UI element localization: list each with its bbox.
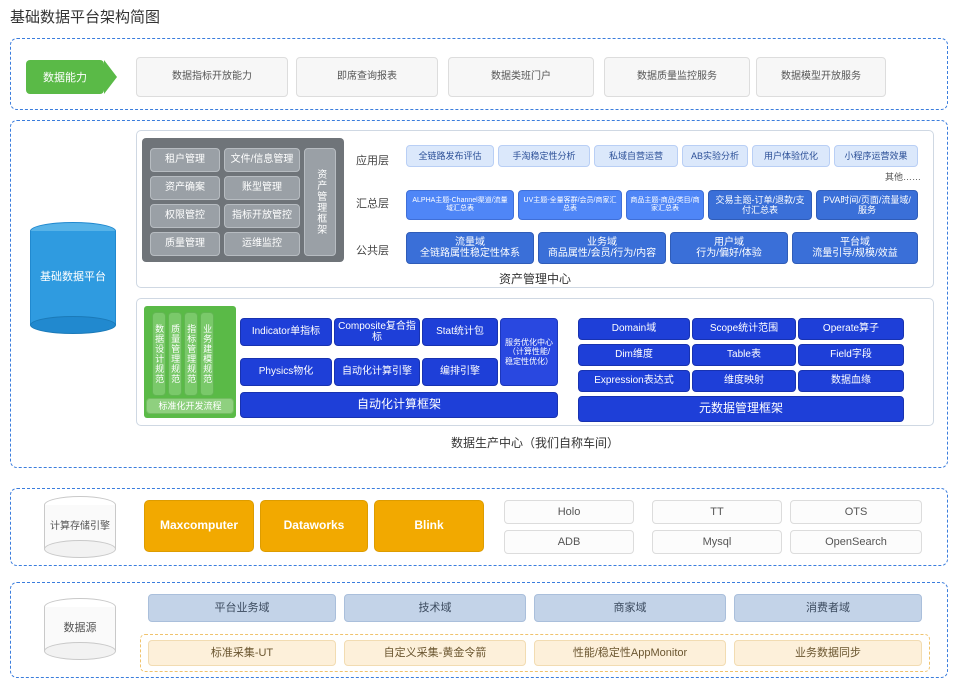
standard-process-label: 标准化开发流程 [146, 398, 234, 414]
asset-chip[interactable]: 文件/信息管理 [224, 148, 300, 172]
capability-chip[interactable]: 即席查询报表 [296, 57, 438, 97]
source-label-text: 数据源 [44, 622, 116, 636]
asset-chip[interactable]: 资产确案 [150, 176, 220, 200]
production-center-caption: 数据生产中心（我们自称车间） [136, 434, 934, 451]
asset-center-caption: 资产管理中心 [136, 270, 934, 287]
app-layer-chip[interactable]: AB实验分析 [682, 145, 748, 167]
source-domain-chip[interactable]: 平台业务域 [148, 594, 336, 622]
auto-calc-chip[interactable]: Indicator单指标 [240, 318, 332, 346]
compute-primary-chip[interactable]: Maxcomputer [144, 500, 254, 552]
metadata-chip[interactable]: Dim维度 [578, 344, 690, 366]
capabilities-label-text: 数据能力 [43, 69, 87, 85]
metadata-chip[interactable]: Field字段 [798, 344, 904, 366]
source-pipeline-chip[interactable]: 自定义采集-黄金令箭 [344, 640, 526, 666]
source-pipeline-chip[interactable]: 业务数据同步 [734, 640, 922, 666]
source-label-cylinder: 数据源 [44, 598, 116, 660]
compute-secondary-chip[interactable]: Mysql [652, 530, 782, 554]
compute-label-cylinder: 计算存储引擎 [44, 496, 116, 558]
summary-layer-chip[interactable]: ALPHA主题-Channel渠道/流量域汇总表 [406, 190, 514, 220]
app-layer-chip[interactable]: 全链路发布评估 [406, 145, 494, 167]
compute-primary-chip[interactable]: Blink [374, 500, 484, 552]
summary-layer-chip[interactable]: 交易主题-订单/退款/支付汇总表 [708, 190, 812, 220]
app-layer-chip[interactable]: 手淘稳定性分析 [498, 145, 590, 167]
cylinder-bottom [44, 642, 116, 660]
auto-calc-chip[interactable]: 编排引擎 [422, 358, 498, 386]
asset-framework-label: 资产管理框架 [304, 148, 336, 256]
asset-chip[interactable]: 租户管理 [150, 148, 220, 172]
compute-label-text: 计算存储引擎 [44, 521, 116, 534]
platform-label-text: 基础数据平台 [30, 271, 116, 285]
metadata-chip[interactable]: Operate算子 [798, 318, 904, 340]
service-optimization-chip[interactable]: 服务优化中心（计算性能/稳定性优化） [500, 318, 558, 386]
compute-secondary-chip[interactable]: Holo [504, 500, 634, 524]
capability-chip[interactable]: 数据指标开放能力 [136, 57, 288, 97]
capability-chip[interactable]: 数据类班门户 [448, 57, 594, 97]
summary-layer-chip[interactable]: PVA时间/页面/流量域/服务 [816, 190, 918, 220]
asset-chip[interactable]: 质量管理 [150, 232, 220, 256]
asset-chip[interactable]: 运维监控 [224, 232, 300, 256]
asset-chip[interactable]: 权限管控 [150, 204, 220, 228]
capabilities-label: 数据能力 [26, 60, 104, 94]
app-layer-chip[interactable]: 小程序运营效果 [834, 145, 918, 167]
layer-label-app: 应用层 [356, 152, 389, 168]
architecture-diagram: 基础数据平台架构简图 数据能力 数据指标开放能力 即席查询报表 数据类班门户 数… [0, 0, 958, 686]
auto-calc-chip[interactable]: Physics物化 [240, 358, 332, 386]
metadata-chip[interactable]: 维度映射 [692, 370, 796, 392]
capability-chip[interactable]: 数据模型开放服务 [756, 57, 886, 97]
compute-secondary-chip[interactable]: TT [652, 500, 782, 524]
source-domain-chip[interactable]: 商家域 [534, 594, 726, 622]
common-layer-chip[interactable]: 用户域 行为/偏好/体验 [670, 232, 788, 264]
cylinder-bottom [30, 316, 116, 334]
metadata-chip[interactable]: Table表 [692, 344, 796, 366]
app-layer-chip[interactable]: 私域自营运营 [594, 145, 678, 167]
summary-layer-chip[interactable]: 商品主题-商品/类目/商家汇总表 [626, 190, 704, 220]
capability-chip[interactable]: 数据质量监控服务 [604, 57, 750, 97]
summary-layer-chip[interactable]: UV主题-全量客群/会员/商家汇总表 [518, 190, 622, 220]
asset-chip[interactable]: 指标开放管控 [224, 204, 300, 228]
metadata-framework-bar[interactable]: 元数据管理框架 [578, 396, 904, 422]
source-domain-chip[interactable]: 消费者域 [734, 594, 922, 622]
common-layer-chip[interactable]: 业务域 商品属性/会员/行为/内容 [538, 232, 666, 264]
auto-calc-framework-bar[interactable]: 自动化计算框架 [240, 392, 558, 418]
auto-calc-chip[interactable]: Stat统计包 [422, 318, 498, 346]
layer-label-summary: 汇总层 [356, 195, 389, 211]
source-pipeline-chip[interactable]: 标准采集-UT [148, 640, 336, 666]
auto-calc-chip[interactable]: Composite复合指标 [334, 318, 420, 346]
compute-primary-chip[interactable]: Dataworks [260, 500, 368, 552]
asset-chip[interactable]: 账型管理 [224, 176, 300, 200]
source-domain-chip[interactable]: 技术域 [344, 594, 526, 622]
compute-secondary-chip[interactable]: ADB [504, 530, 634, 554]
source-pipeline-chip[interactable]: 性能/稳定性AppMonitor [534, 640, 726, 666]
compute-secondary-chip[interactable]: OpenSearch [790, 530, 922, 554]
page-title: 基础数据平台架构简图 [10, 6, 160, 27]
common-layer-chip[interactable]: 流量域 全链路属性稳定性体系 [406, 232, 534, 264]
compute-secondary-chip[interactable]: OTS [790, 500, 922, 524]
cylinder-bottom [44, 540, 116, 558]
standard-chip[interactable]: 质量管理规范 [168, 312, 182, 396]
auto-calc-chip[interactable]: 自动化计算引擎 [334, 358, 420, 386]
capabilities-arrow-icon [104, 60, 117, 94]
standard-chip[interactable]: 数据设计规范 [152, 312, 166, 396]
metadata-chip[interactable]: Scope统计范围 [692, 318, 796, 340]
standard-chip[interactable]: 指标管理规范 [184, 312, 198, 396]
platform-label-cylinder: 基础数据平台 [30, 222, 116, 334]
metadata-chip[interactable]: Expression表达式 [578, 370, 690, 392]
common-layer-chip[interactable]: 平台域 流量引导/规模/效益 [792, 232, 918, 264]
layer-label-common: 公共层 [356, 242, 389, 258]
metadata-chip[interactable]: 数据血缘 [798, 370, 904, 392]
standard-chip[interactable]: 业务建模规范 [200, 312, 214, 396]
app-layer-chip[interactable]: 用户体验优化 [752, 145, 830, 167]
metadata-chip[interactable]: Domain域 [578, 318, 690, 340]
app-layer-chip-more: 其他…… [880, 170, 926, 184]
